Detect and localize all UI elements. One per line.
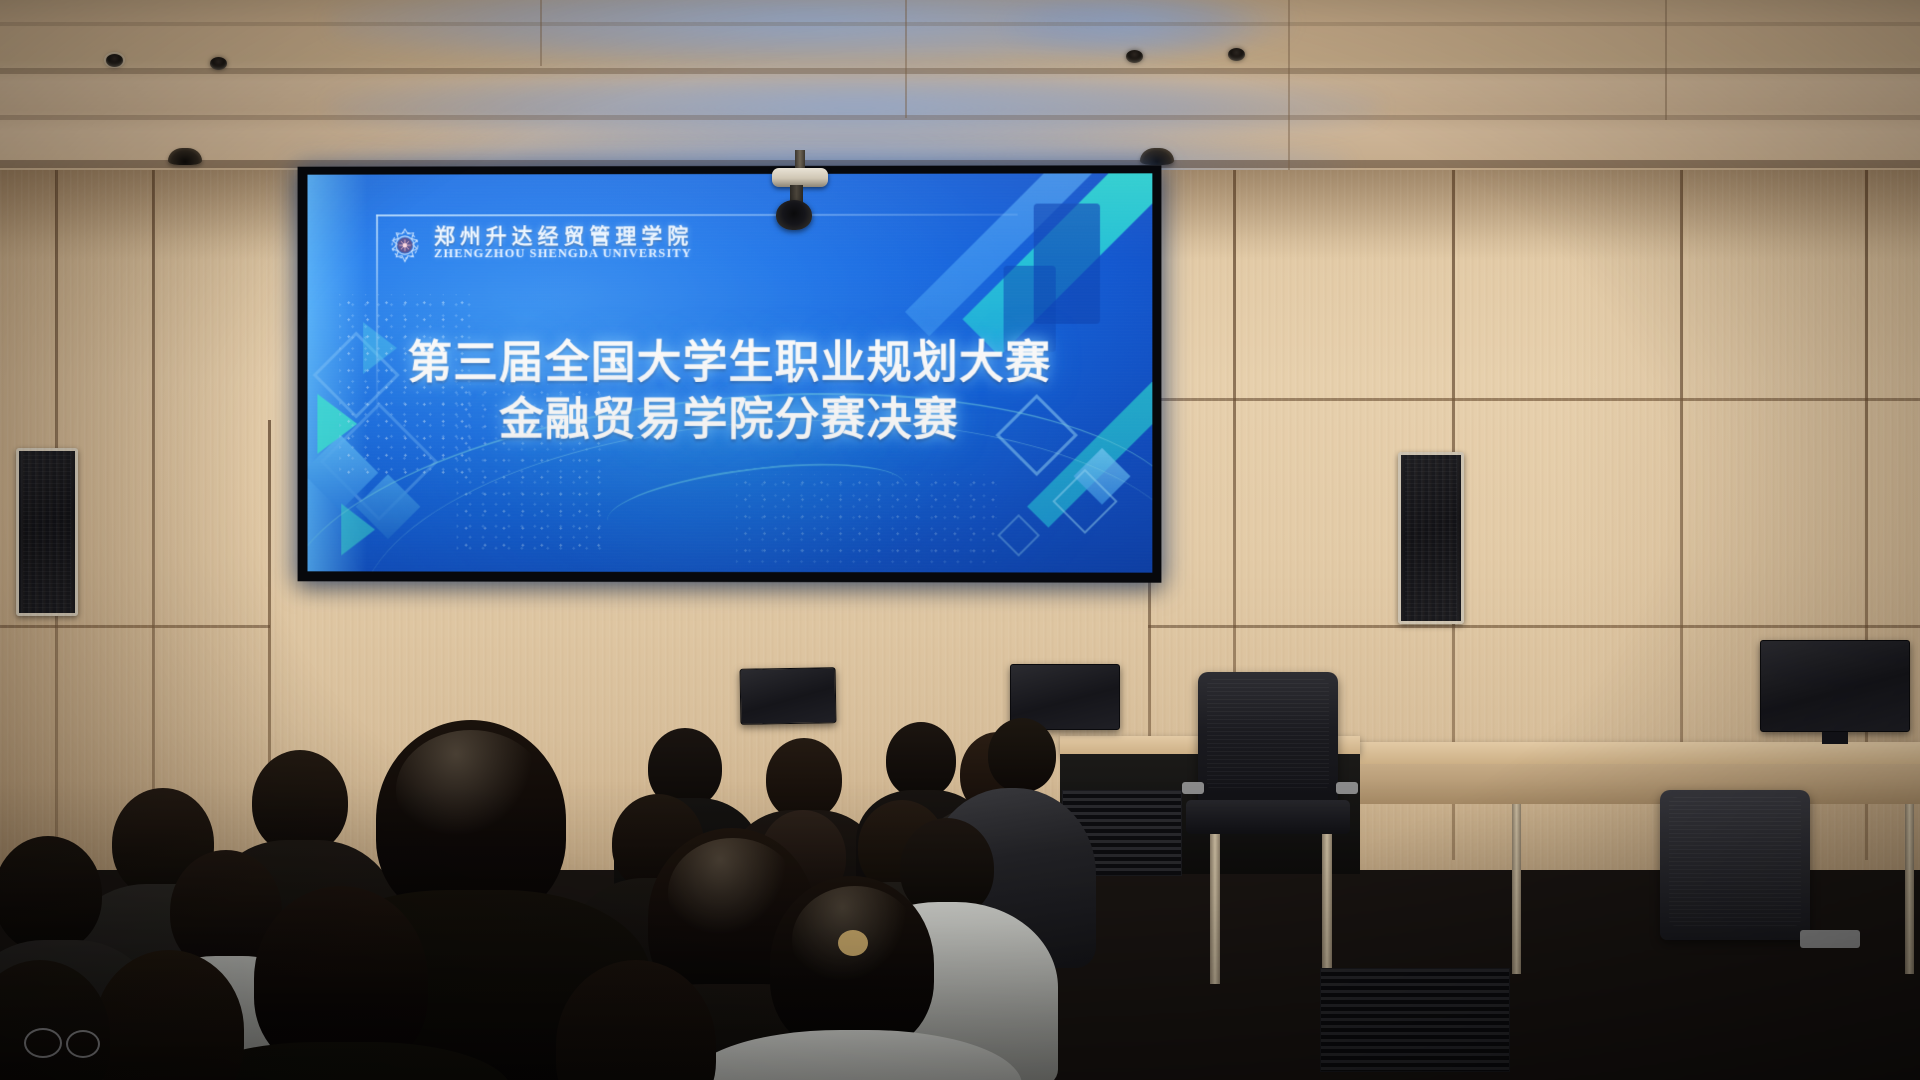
ceiling-seam <box>1665 0 1667 120</box>
slide-title-block: 第三届全国大学生职业规划大赛 金融贸易学院分赛决赛 <box>307 337 1152 447</box>
hair-clip-icon <box>838 930 868 956</box>
recessed-downlight-icon <box>106 54 123 67</box>
eyeglasses-icon <box>66 1030 100 1058</box>
university-crest-icon <box>382 222 428 268</box>
ceiling <box>0 0 1920 178</box>
smoke-detector-icon <box>1140 148 1174 165</box>
slide-title-line-2: 金融贸易学院分赛决赛 <box>307 393 1152 447</box>
auditorium-photo: 郑州升达经贸管理学院 ZHENGZHOU SHENGDA UNIVERSITY … <box>0 0 1920 1080</box>
slide-header: 郑州升达经贸管理学院 ZHENGZHOU SHENGDA UNIVERSITY <box>376 211 1018 283</box>
smoke-detector-icon <box>168 148 202 165</box>
ceiling-seam <box>1288 0 1290 172</box>
recessed-downlight-icon <box>1228 48 1245 61</box>
projection-screen: 郑州升达经贸管理学院 ZHENGZHOU SHENGDA UNIVERSITY … <box>298 165 1162 582</box>
recessed-downlight-icon <box>1126 50 1143 63</box>
ceiling-band <box>0 68 1920 74</box>
ceiling-seam <box>540 0 542 66</box>
audience <box>0 560 1920 1080</box>
ptz-camera-icon <box>776 200 812 230</box>
recessed-downlight-icon <box>210 57 227 70</box>
wall-panel-seam <box>1148 398 1920 401</box>
header-rule <box>376 213 1018 216</box>
ceiling-band <box>0 115 1920 120</box>
eyeglasses-icon <box>24 1028 62 1058</box>
ceiling-band <box>0 22 1920 26</box>
slide-canvas: 郑州升达经贸管理学院 ZHENGZHOU SHENGDA UNIVERSITY … <box>307 173 1152 572</box>
slide-title-line-1: 第三届全国大学生职业规划大赛 <box>307 337 1152 389</box>
ceiling-seam <box>905 0 907 118</box>
university-name-en: ZHENGZHOU SHENGDA UNIVERSITY <box>434 246 692 261</box>
